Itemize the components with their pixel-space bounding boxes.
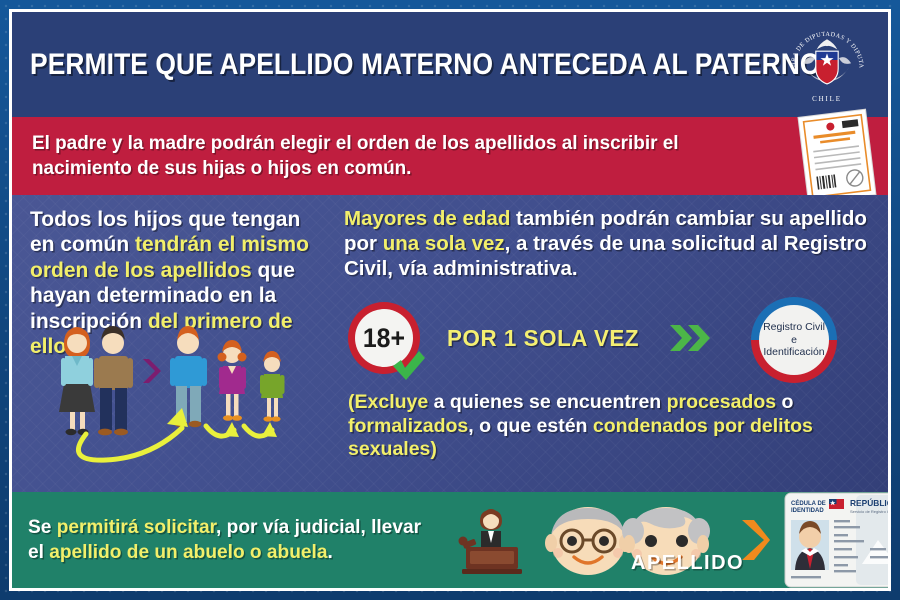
green-band-text: Se permitirá solicitar, por vía judicial…: [28, 515, 440, 564]
exclusion-note-text: (Excluye a quienes se encuentren procesa…: [348, 391, 868, 462]
double-chevron-right-icon: [668, 321, 726, 355]
age-requirement-row: 18+ POR 1 SOLA VEZ: [348, 299, 853, 377]
green-statement-band: Se permitirá solicitar, por vía judicial…: [12, 492, 888, 588]
child-2-figure: [218, 340, 247, 421]
plain-text: a quienes se encuentren: [428, 391, 666, 413]
once-only-label: POR 1 SOLA VEZ: [447, 325, 639, 352]
plain-text: Se: [28, 516, 57, 538]
red-band-text: El padre y la madre podrán elegir el ord…: [32, 131, 750, 180]
surname-label: APELLIDO: [631, 552, 744, 575]
exclusion-note: (Excluye a quienes se encuentren procesa…: [348, 391, 868, 462]
green-band-icons: APELLIDO CÉDULA DE IDENTIDAD: [452, 492, 880, 588]
age-18-plus-badge: 18+: [348, 302, 420, 374]
header-bar: PERMITE QUE APELLIDO MATERNO ANTECEDA AL…: [12, 12, 888, 117]
mother-figure: [59, 327, 95, 435]
svg-text:REPÚBLICA DE CHILE: REPÚBLICA DE CHILE: [850, 497, 888, 508]
highlighted-text: Mayores de edad: [344, 207, 510, 230]
right-column-text: Mayores de edad también podrán cambiar s…: [344, 207, 872, 281]
child-3-figure: [260, 351, 285, 422]
registro-civil-label: Registro Civil e Identificación: [759, 305, 829, 375]
poster-content: PERMITE QUE APELLIDO MATERNO ANTECEDA AL…: [12, 12, 888, 588]
infographic-poster: PERMITE QUE APELLIDO MATERNO ANTECEDA AL…: [0, 0, 900, 600]
judge-at-bench-icon: [452, 501, 530, 579]
child-1-figure: [170, 326, 207, 427]
red-statement-band: El padre y la madre podrán elegir el ord…: [12, 117, 888, 195]
right-column: Mayores de edad también podrán cambiar s…: [334, 195, 888, 492]
highlighted-text: formalizados: [348, 415, 468, 437]
family-order-of-surnames-illustration: [36, 316, 326, 466]
body-section: Todos los hijos que tengan en común tend…: [12, 195, 888, 492]
highlighted-text: (Excluye: [348, 391, 428, 413]
highlighted-text: una sola vez: [383, 232, 505, 255]
green-check-icon: [389, 349, 427, 383]
svg-text:IDENTIDAD: IDENTIDAD: [791, 508, 824, 514]
plain-text: o: [776, 391, 793, 413]
grandparents-faces-icon: APELLIDO: [536, 501, 722, 579]
purple-chevron-icon: [143, 359, 161, 383]
registro-civil-badge: Registro Civil e Identificación: [751, 297, 837, 383]
camara-de-diputadas-y-diputados-chile-logo: CÁMARA DE DIPUTADAS Y DIPUTADOS CHIL: [784, 22, 870, 108]
left-column: Todos los hijos que tengan en común tend…: [12, 195, 334, 492]
father-figure: [94, 326, 133, 435]
birth-certificate-icon: [795, 106, 880, 206]
grandfather-face: [545, 507, 631, 575]
highlighted-text: procesados: [667, 391, 776, 413]
plain-text: .: [327, 541, 332, 563]
chilean-id-card-icon: CÉDULA DE IDENTIDAD REPÚBLICA DE CHILE S…: [784, 492, 888, 588]
highlighted-text: permitirá solicitar: [57, 516, 216, 538]
highlighted-text: apellido de un abuelo o abuela: [49, 541, 327, 563]
svg-text:CÉDULA DE: CÉDULA DE: [791, 499, 826, 507]
svg-text:CHILE: CHILE: [812, 96, 842, 103]
page-title: PERMITE QUE APELLIDO MATERNO ANTECEDA AL…: [30, 48, 821, 82]
svg-text:Servicio de Registro Civil e I: Servicio de Registro Civil e Identificac…: [850, 509, 888, 514]
plain-text: , o que estén: [468, 415, 593, 437]
